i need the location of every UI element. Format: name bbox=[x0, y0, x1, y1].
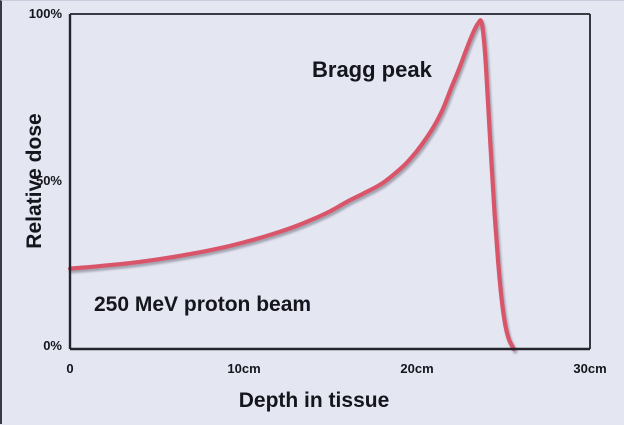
x-axis-tick-label-0: 0 bbox=[50, 361, 90, 376]
y-axis-tick-label-0: 0% bbox=[10, 338, 62, 353]
x-axis-tick-label-30cm: 30cm bbox=[564, 361, 616, 376]
x-axis-tick-label-10cm: 10cm bbox=[218, 361, 270, 376]
y-axis-title: Relative dose bbox=[23, 101, 47, 261]
bragg-peak-annotation: Bragg peak bbox=[312, 57, 432, 83]
y-axis-tick-label-100: 100% bbox=[2, 6, 62, 21]
x-axis-title: Depth in tissue bbox=[2, 389, 624, 413]
bragg-peak-chart-figure: 0% 50% 100% 0 10cm 20cm 30cm Relative do… bbox=[0, 0, 624, 424]
beam-energy-annotation: 250 MeV proton beam bbox=[94, 293, 311, 317]
x-axis-tick-label-20cm: 20cm bbox=[391, 361, 443, 376]
